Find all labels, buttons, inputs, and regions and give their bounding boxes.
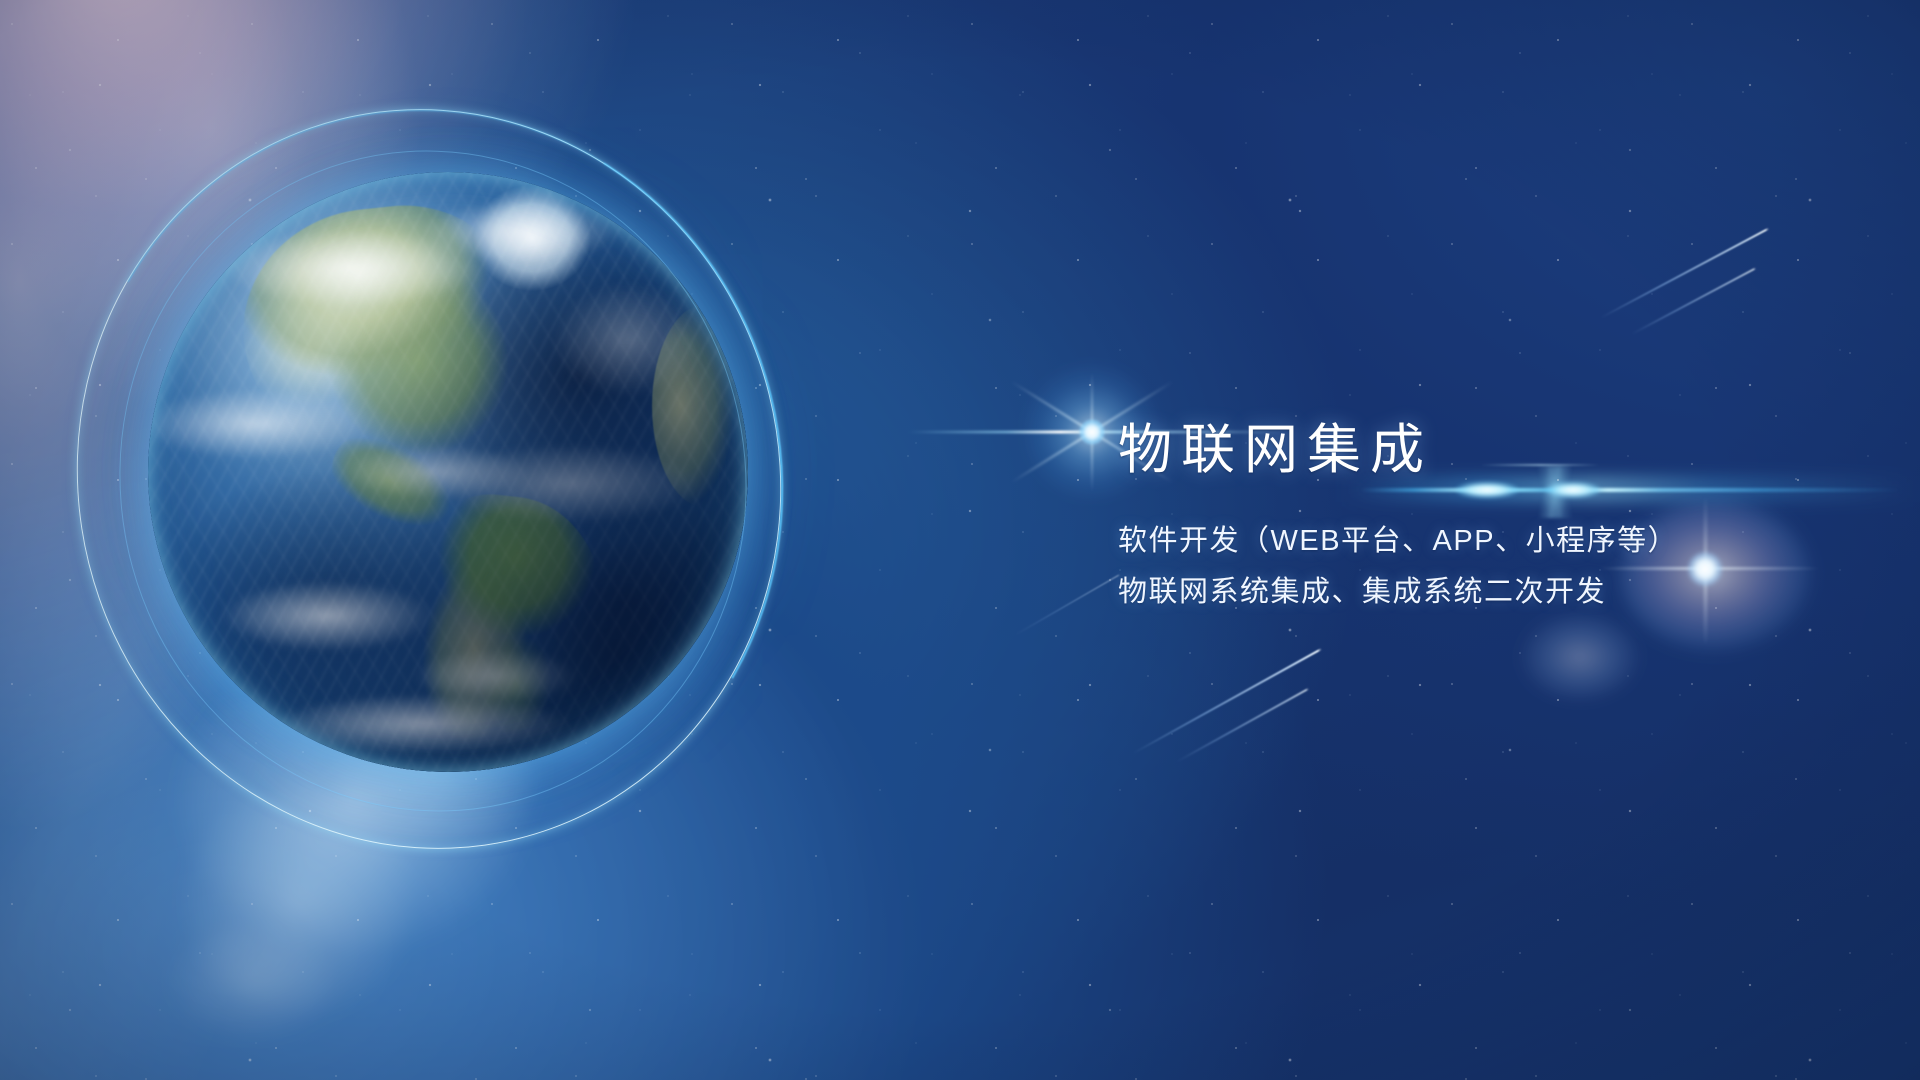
hero-subtitle-2: 物联网系统集成、集成系统二次开发 [1118,567,1858,618]
hero-text-block: 物联网集成 软件开发（WEB平台、APP、小程序等） 物联网系统集成、集成系统二… [1118,414,1858,618]
meteor-streak-1 [1601,228,1770,319]
meteor-streak-2 [1632,267,1756,334]
meteor-streak-3 [1133,648,1322,754]
page-title: 物联网集成 [1118,414,1858,486]
flare-core [1079,419,1105,445]
flare-ray-vertical [1091,372,1093,492]
hero-banner: 物联网集成 软件开发（WEB平台、APP、小程序等） 物联网系统集成、集成系统二… [0,0,1920,1080]
meteor-streak-4 [1177,688,1309,762]
hero-subtitle-1: 软件开发（WEB平台、APP、小程序等） [1118,516,1858,567]
lens-flare-small [1520,612,1640,702]
meteor-streak-5 [1016,574,1121,635]
flare-small-glow [1520,612,1640,702]
